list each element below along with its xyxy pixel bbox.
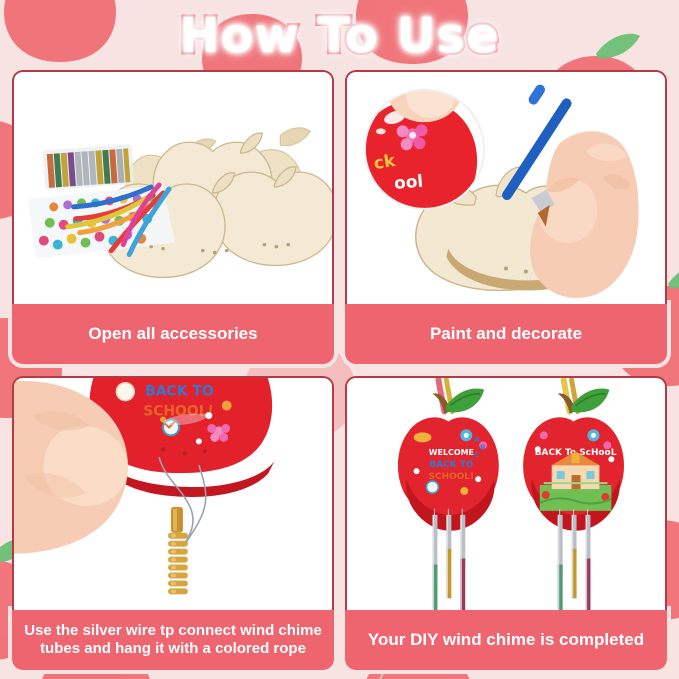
step-caption-2: Paint and decorate [345, 304, 667, 364]
step-caption-4: Your DIY wind chime is completed [345, 610, 667, 670]
chime-left-line1: WELCOME [429, 448, 474, 457]
svg-text:A: A [474, 435, 480, 443]
page-title: How To Use [0, 8, 679, 64]
step-card-1: Open all accessories [12, 70, 334, 364]
svg-text:C: C [474, 451, 479, 459]
steps-grid: Open all accessories [12, 70, 667, 670]
step-card-3: BACK TO SCHOOL! [12, 376, 334, 670]
photo-finished-wind-chimes: ABC WELCOME BACK TO SCHOOL! [345, 376, 667, 610]
step-card-2: ck ool Paint and decorate [345, 70, 667, 364]
step-caption-3: Use the silver wire tp connect wind chim… [12, 610, 334, 670]
inset-text-ool: ool [393, 171, 424, 193]
photo-paint-and-decorate: ck ool [345, 70, 667, 304]
photo-connect-wind-chime-tubes: BACK TO SCHOOL! [12, 376, 334, 610]
apple-text-line1: BACK TO [145, 384, 214, 400]
step-card-4: ABC WELCOME BACK TO SCHOOL! [345, 376, 667, 670]
chime-left-line2: BACK TO [429, 460, 473, 470]
chime-left-line3: SCHOOL! [429, 472, 474, 482]
inset-text-ck: ck [372, 150, 397, 173]
step-caption-1: Open all accessories [12, 304, 334, 364]
svg-text:B: B [480, 443, 485, 451]
photo-open-all-accessories [12, 70, 334, 304]
